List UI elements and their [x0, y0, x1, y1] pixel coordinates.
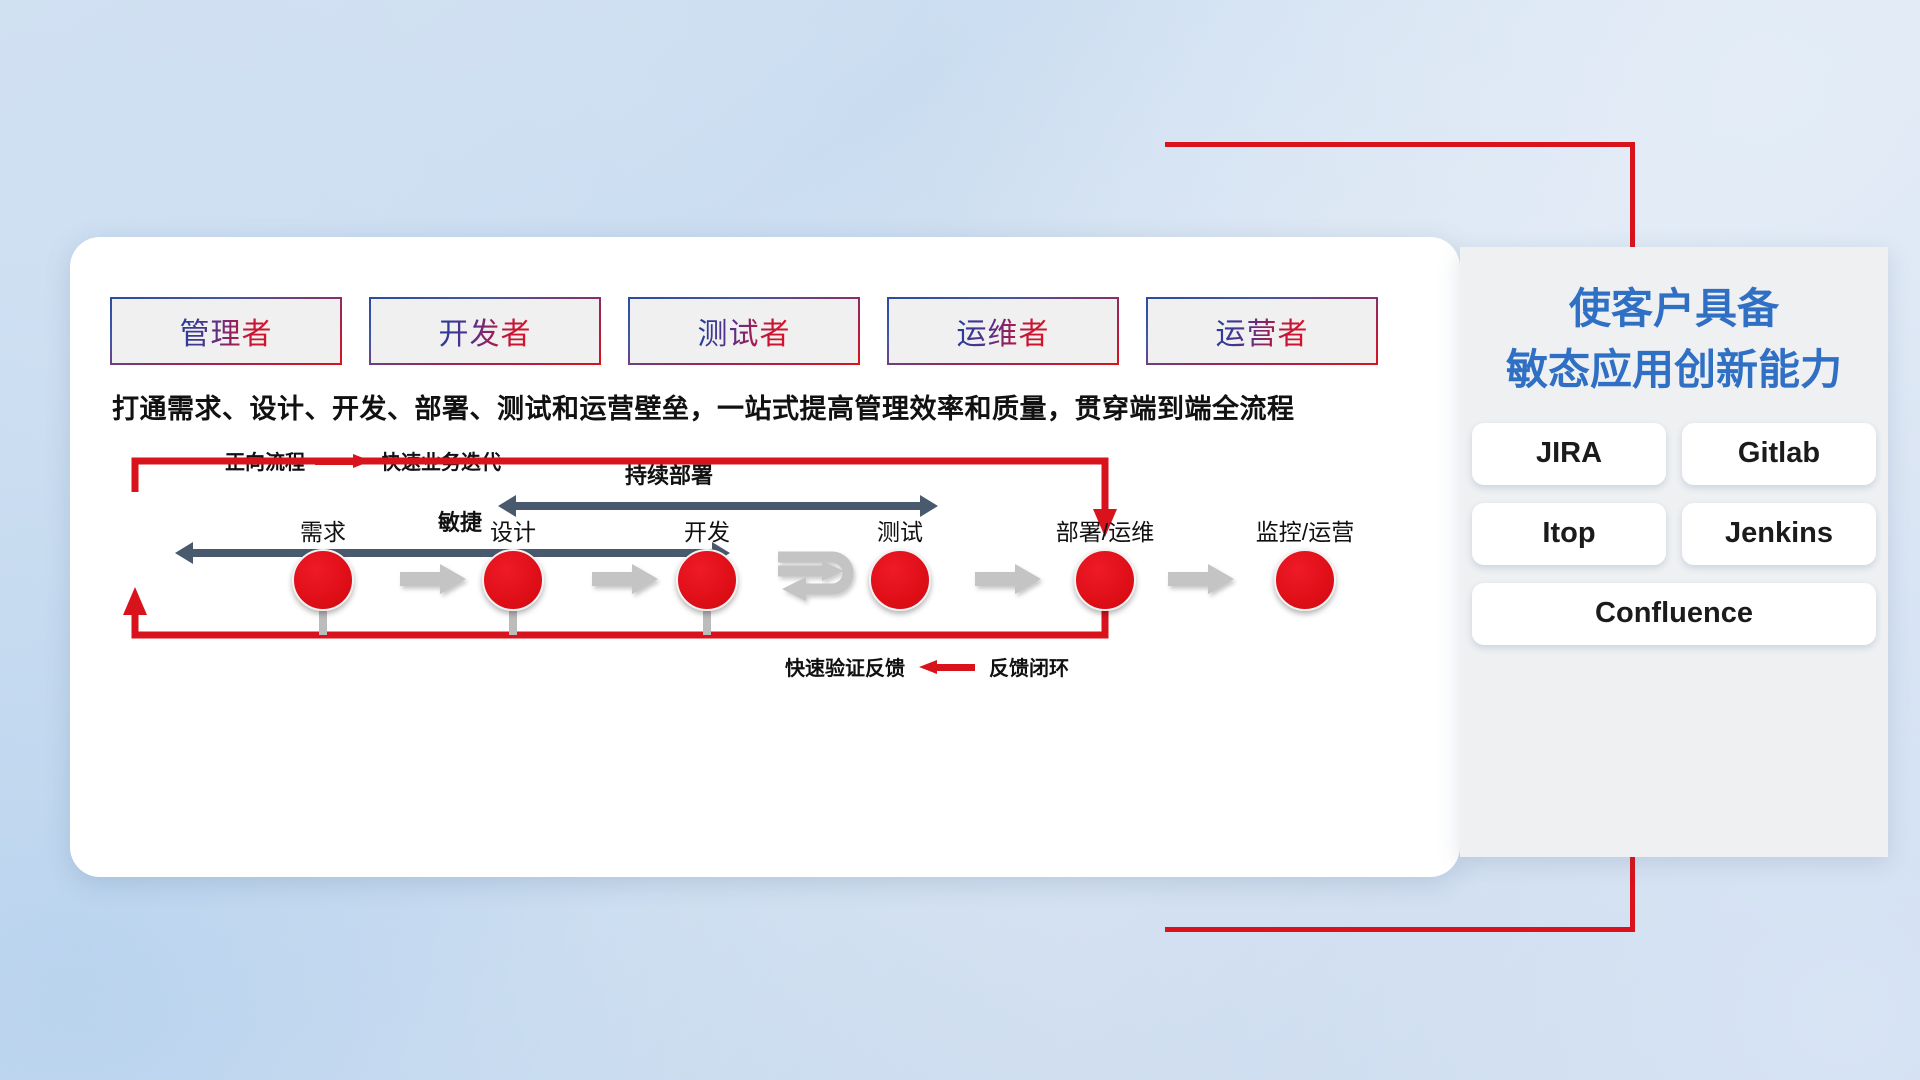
tool-chip-jenkins[interactable]: Jenkins — [1682, 503, 1876, 565]
panel-title-line1: 使客户具备 — [1569, 285, 1779, 332]
stage-label: 开发 — [684, 513, 730, 547]
stage-node-icon[interactable] — [1274, 549, 1336, 611]
tool-chip-label: Gitlab — [1738, 437, 1820, 470]
tool-chip-label: JIRA — [1536, 437, 1602, 470]
flow-arrow-icon — [400, 562, 466, 596]
legend-feedback-to: 反馈闭环 — [989, 652, 1069, 681]
flow-arrow-icon — [975, 562, 1041, 596]
stage-label: 需求 — [300, 513, 346, 547]
tool-chip-confluence[interactable]: Confluence — [1472, 583, 1876, 645]
tool-chip-label: Confluence — [1595, 597, 1753, 630]
legend-feedback-from: 快速验证反馈 — [785, 652, 905, 681]
flow-arrow-icon — [1168, 562, 1234, 596]
outcome-panel: 使客户具备 敏态应用创新能力 JIRA Gitlab Itop Jenkins … — [1460, 247, 1888, 857]
devops-pipeline: 需求 设计 开发 测试 — [70, 237, 1460, 877]
stage-label: 部署/运维 — [1056, 513, 1154, 547]
iteration-loop-arrow-icon — [770, 551, 870, 613]
tool-chip-grid: JIRA Gitlab Itop Jenkins Confluence — [1472, 423, 1876, 645]
stage-node-icon[interactable] — [1074, 549, 1136, 611]
stage-label: 测试 — [877, 513, 923, 547]
tool-chip-gitlab[interactable]: Gitlab — [1682, 423, 1876, 485]
flow-arrow-icon — [592, 562, 658, 596]
stage-node-icon[interactable] — [292, 549, 354, 611]
stage-node-icon[interactable] — [869, 549, 931, 611]
stage-node-icon[interactable] — [676, 549, 738, 611]
tool-chip-jira[interactable]: JIRA — [1472, 423, 1666, 485]
stage-label: 设计 — [490, 513, 536, 547]
panel-title-line2: 敏态应用创新能力 — [1460, 340, 1888, 401]
arrow-left-icon — [919, 660, 975, 674]
panel-title: 使客户具备 敏态应用创新能力 — [1460, 279, 1888, 401]
legend-feedback-loop: 快速验证反馈 反馈闭环 — [785, 652, 1069, 681]
tool-chip-itop[interactable]: Itop — [1472, 503, 1666, 565]
main-diagram-card: 管理者 开发者 测试者 运维者 运营者 打通需求、设计、开发、部署、测试和运营壁… — [70, 237, 1460, 877]
stage-label: 监控/运营 — [1256, 513, 1354, 547]
stage-node-icon[interactable] — [482, 549, 544, 611]
tool-chip-label: Jenkins — [1725, 517, 1833, 550]
tool-chip-label: Itop — [1542, 517, 1595, 550]
